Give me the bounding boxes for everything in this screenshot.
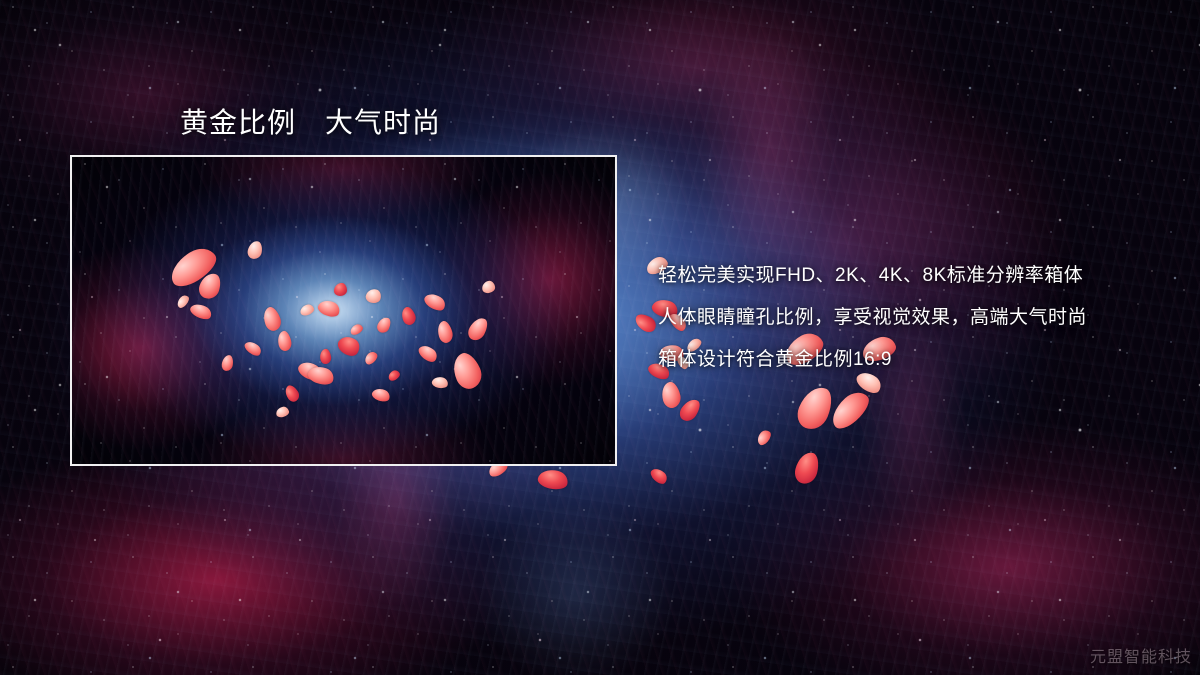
- petal: [334, 283, 347, 296]
- petal: [349, 323, 365, 337]
- petal: [260, 305, 283, 333]
- petal: [648, 465, 669, 486]
- petal: [431, 375, 449, 389]
- petal: [365, 287, 383, 304]
- petal: [481, 280, 496, 294]
- petal: [188, 301, 213, 322]
- petal: [221, 354, 234, 371]
- petal: [826, 386, 875, 433]
- petal: [276, 330, 293, 352]
- petal: [299, 303, 315, 317]
- petal: [243, 339, 264, 359]
- petal: [465, 315, 490, 344]
- petal: [755, 428, 774, 447]
- petal: [793, 382, 837, 434]
- petal: [282, 383, 301, 404]
- petal: [536, 467, 569, 492]
- petal: [387, 369, 402, 383]
- petal: [370, 386, 391, 403]
- body-line-3: 箱体设计符合黄金比例16:9: [658, 339, 1158, 381]
- petal: [275, 406, 290, 419]
- petal: [435, 319, 455, 344]
- petal: [632, 311, 658, 335]
- picture-petals-group: [72, 157, 615, 464]
- petal: [175, 293, 191, 309]
- watermark: 元盟智能科技: [1090, 643, 1192, 667]
- petal: [362, 350, 379, 367]
- petal: [316, 297, 342, 319]
- petal: [792, 450, 821, 486]
- petal: [659, 380, 683, 410]
- petal: [448, 349, 486, 392]
- petal: [422, 290, 448, 314]
- slide-canvas: 黄金比例 大气时尚 轻松完美实现FHD、2K、4K、8K标准分辨率箱体 人体眼睛…: [0, 0, 1200, 675]
- petal: [399, 305, 418, 327]
- page-title: 黄金比例 大气时尚: [180, 101, 441, 141]
- body-line-2: 人体眼睛瞳孔比例，享受视觉效果，高端大气时尚: [658, 297, 1158, 339]
- petal: [677, 396, 704, 425]
- petal: [416, 342, 440, 365]
- body-text-block: 轻松完美实现FHD、2K、4K、8K标准分辨率箱体 人体眼睛瞳孔比例，享受视觉效…: [658, 255, 1158, 381]
- petal: [319, 348, 332, 364]
- petal: [247, 240, 264, 260]
- petal: [375, 315, 392, 334]
- petal: [335, 332, 363, 359]
- picture-frame: [70, 155, 617, 466]
- body-line-1: 轻松完美实现FHD、2K、4K、8K标准分辨率箱体: [658, 255, 1158, 297]
